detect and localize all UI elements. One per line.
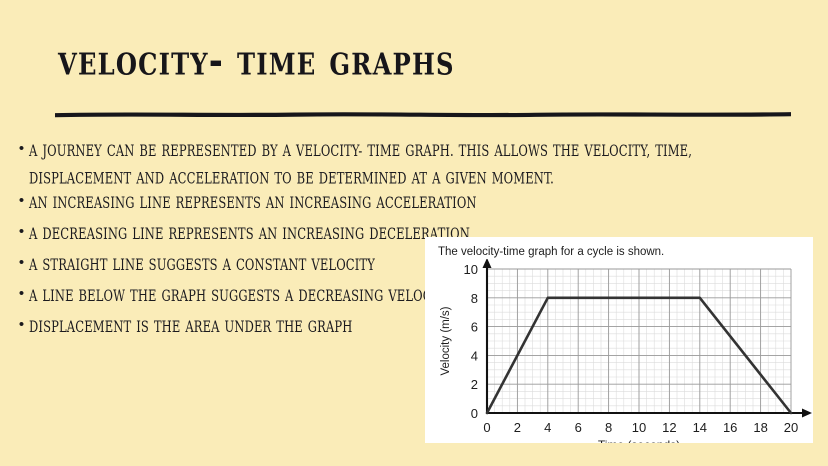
svg-text:4: 4 (544, 420, 551, 435)
svg-text:4: 4 (471, 348, 478, 363)
svg-text:6: 6 (471, 320, 478, 335)
list-item: • A journey can be represented by a velo… (14, 137, 774, 180)
svg-text:2: 2 (471, 377, 478, 392)
bullet-marker-icon: • (14, 313, 29, 335)
svg-text:8: 8 (471, 291, 478, 306)
svg-text:18: 18 (753, 420, 767, 435)
list-item: • An increasing line represents an incre… (14, 189, 774, 211)
bullet-marker-icon: • (14, 251, 29, 273)
bullet-marker-icon: • (14, 189, 29, 211)
velocity-time-chart: 024681002468101214161820Velocity (m/s)Ti… (425, 259, 813, 443)
slide-canvas: Velocity- Time graphs • A journey can be… (0, 0, 828, 466)
bullet-marker-icon: • (14, 220, 29, 242)
svg-text:0: 0 (483, 420, 490, 435)
svg-text:Velocity (m/s): Velocity (m/s) (440, 306, 452, 375)
svg-text:2: 2 (514, 420, 521, 435)
title-divider (55, 110, 791, 119)
graph-caption: The velocity-time graph for a cycle is s… (438, 246, 664, 258)
svg-text:Time (seconds): Time (seconds) (598, 438, 680, 443)
panel-edge-artifact (761, 238, 807, 245)
svg-text:16: 16 (723, 420, 737, 435)
svg-text:20: 20 (784, 420, 798, 435)
bullet-marker-icon: • (14, 282, 29, 304)
svg-text:8: 8 (605, 420, 612, 435)
bullet-marker-icon: • (14, 137, 29, 159)
svg-text:12: 12 (662, 420, 676, 435)
list-item-label: A journey can be represented by a veloci… (29, 137, 722, 191)
svg-text:14: 14 (693, 420, 707, 435)
svg-text:0: 0 (471, 406, 478, 421)
page-title: Velocity- Time graphs (58, 38, 455, 85)
svg-text:10: 10 (464, 262, 478, 277)
svg-text:10: 10 (632, 420, 646, 435)
velocity-time-graph-panel: The velocity-time graph for a cycle is s… (425, 237, 813, 443)
list-item-label: An increasing line represents an increas… (29, 189, 722, 216)
svg-text:6: 6 (575, 420, 582, 435)
